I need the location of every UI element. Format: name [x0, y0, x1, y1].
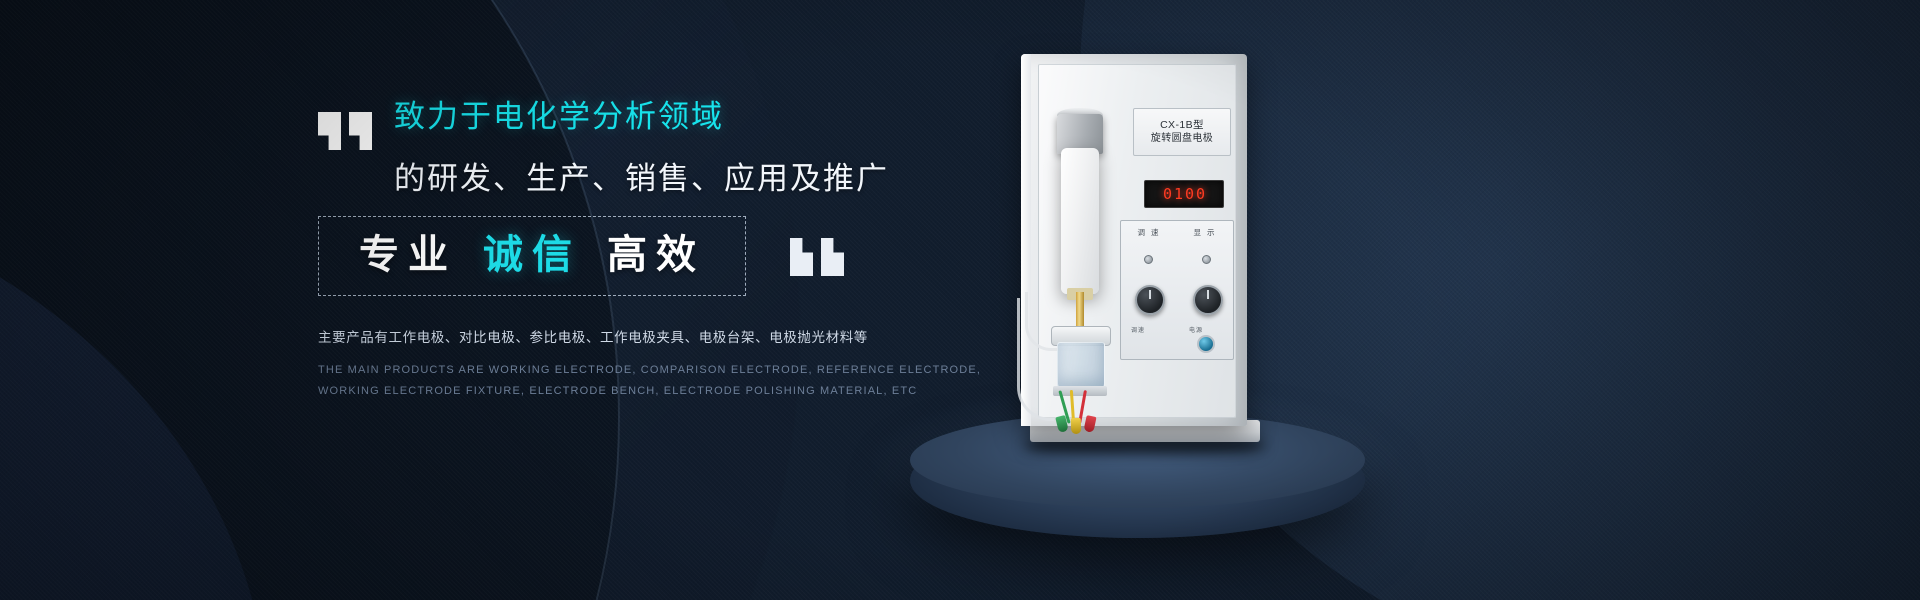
panel-screw: [1202, 255, 1211, 264]
product-nameplate: CX-1B型 旋转圆盘电极: [1133, 108, 1231, 156]
nameplate-name: 旋转圆盘电极: [1151, 132, 1213, 146]
display-knob[interactable]: [1193, 285, 1223, 315]
subtitle-english-line-1: THE MAIN PRODUCTS ARE WORKING ELECTRODE,…: [318, 360, 958, 381]
control-label-right: 显 示: [1177, 227, 1233, 238]
close-quote-icon: [788, 236, 844, 276]
led-digit: 1: [1174, 186, 1183, 202]
slogan-box: 专业 诚信 高效: [318, 216, 746, 296]
rotating-electrode-body: [1061, 148, 1099, 294]
electrode-shaft: [1076, 292, 1084, 330]
slogan-row: 专业 诚信 高效: [318, 216, 958, 296]
led-digit: 0: [1196, 186, 1205, 202]
slogan-word-1: 专业: [359, 229, 457, 281]
alligator-clip-yellow: [1071, 418, 1082, 434]
banner-copy: 致力于电化学分析领域 的研发、生产、销售、应用及推广 专业 诚信 高效 主要产品…: [318, 96, 958, 402]
hero-banner: 致力于电化学分析领域 的研发、生产、销售、应用及推广 专业 诚信 高效 主要产品…: [0, 0, 1920, 600]
headline-line-1: 致力于电化学分析领域: [394, 96, 724, 138]
headline-row: 致力于电化学分析领域: [318, 96, 958, 152]
open-quote-icon: [318, 112, 374, 152]
subtitle-english-line-2: WORKING ELECTRODE FIXTURE, ELECTRODE BEN…: [318, 381, 958, 402]
subtitle-chinese: 主要产品有工作电极、对比电极、参比电极、工作电极夹具、电极台架、电极抛光材料等: [318, 326, 958, 346]
control-label-left: 调 速: [1121, 227, 1177, 238]
nameplate-model: CX-1B型: [1160, 118, 1204, 132]
panel-screw: [1144, 255, 1153, 264]
slogan-word-3: 高效: [607, 229, 705, 281]
power-indicator: [1197, 335, 1215, 353]
headline-line-2: 的研发、生产、销售、应用及推广: [394, 158, 958, 200]
led-digit: 0: [1185, 186, 1194, 202]
slogan-word-2: 诚信: [483, 229, 581, 281]
knob-label-right: 电源: [1189, 325, 1203, 334]
product-photo: CX-1B型 旋转圆盘电极 0 1 0 0 调 速 显 示 调速 电源: [905, 30, 1425, 500]
electrolytic-cell: [1057, 342, 1105, 390]
speed-knob[interactable]: [1135, 285, 1165, 315]
led-display: 0 1 0 0: [1144, 180, 1224, 208]
control-subpanel: 调 速 显 示 调速 电源: [1120, 220, 1234, 360]
control-labels: 调 速 显 示: [1121, 227, 1233, 238]
subtitle-english: THE MAIN PRODUCTS ARE WORKING ELECTRODE,…: [318, 360, 958, 402]
led-digit: 0: [1163, 186, 1172, 202]
knob-label-left: 调速: [1131, 325, 1145, 334]
